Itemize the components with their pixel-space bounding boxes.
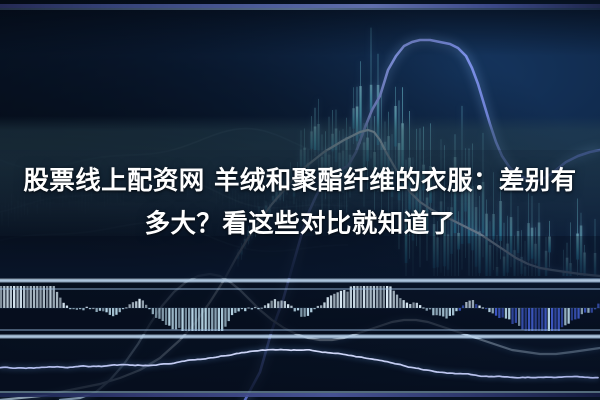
panel-separator-mid [0, 334, 600, 339]
banner-image: 股票线上配资网 羊绒和聚酯纤维的衣服：差别有 多大？看这些对比就知道了 [0, 0, 600, 400]
indicator-line-layer [0, 0, 600, 400]
indicator-line [0, 350, 598, 378]
panel-separator-top [0, 278, 600, 283]
bottom-rail [0, 393, 600, 397]
panel-separator-mid-2 [0, 329, 600, 331]
panel-separator-top-2 [0, 288, 600, 290]
